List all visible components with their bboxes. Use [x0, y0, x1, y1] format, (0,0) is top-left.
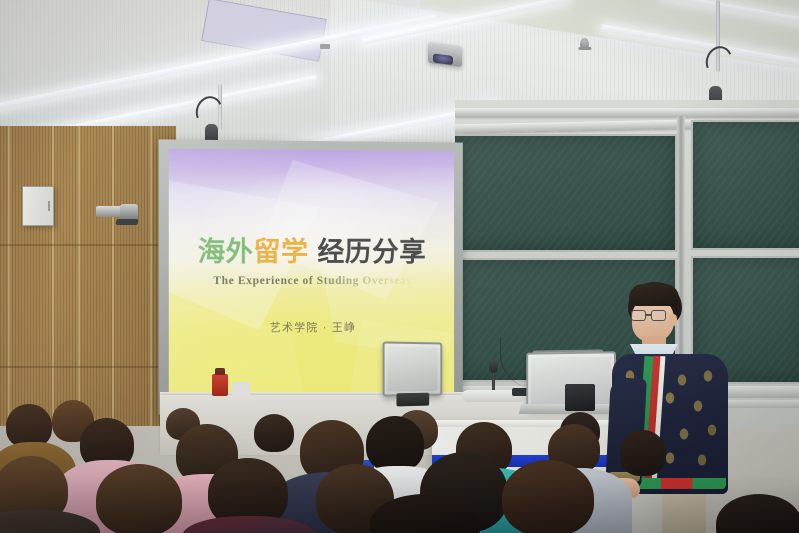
audience-head: [502, 460, 594, 533]
monitor-screen: [388, 347, 438, 392]
slide-title-segment-1: 海外: [198, 237, 254, 267]
glasses-lens-right: [651, 310, 666, 321]
presenter-ear: [669, 314, 677, 326]
slide-subtitle: The Experience of Studing Overseas: [213, 275, 411, 287]
slide-title: 海外留学经历分享: [198, 230, 426, 269]
wood-horizontal-seam: [0, 244, 176, 246]
electrical-box-icon: [22, 186, 54, 226]
desk-microphone-icon: [489, 360, 498, 373]
wood-seam: [78, 126, 80, 426]
red-desk-object: [212, 374, 228, 396]
wood-horizontal-seam: [0, 366, 176, 368]
audience-head: [716, 494, 799, 533]
blackboard-top-rail: [455, 108, 799, 117]
audience: [0, 398, 799, 533]
audience-head: [96, 464, 182, 533]
wood-seam: [150, 126, 152, 426]
ceiling-fixture: [320, 44, 330, 49]
wall-camera-icon: [96, 204, 144, 222]
blackboard-panel-upper-right: [691, 120, 799, 250]
sprinkler-icon: [580, 38, 589, 50]
wood-seam: [52, 126, 54, 426]
blackboard-panel-upper-left: [455, 134, 677, 252]
slide-author-line: 艺术学院 · 王峥: [270, 319, 356, 335]
projector-lens: [433, 54, 453, 65]
slide-title-segment-3: 经历分享: [317, 237, 426, 267]
desk-object: [232, 382, 250, 396]
camera-mount: [115, 219, 138, 225]
audience-head: [620, 430, 666, 476]
audience-head: [366, 416, 424, 472]
presenter-fringe: [629, 284, 679, 306]
glasses-lens-left: [631, 310, 646, 321]
wood-panel-wall: [0, 126, 176, 426]
podium-monitor-left: [383, 341, 443, 396]
lecture-hall-photo: 海外留学经历分享 The Experience of Studing Overs…: [0, 0, 799, 533]
wood-seam: [112, 126, 114, 426]
wood-seam: [8, 126, 10, 426]
blackboard-track: [455, 119, 695, 133]
eyeglasses-icon: [631, 310, 669, 322]
slide-title-segment-2: 留学: [253, 237, 308, 267]
projector-icon: [428, 42, 462, 67]
audience-head: [254, 414, 294, 452]
